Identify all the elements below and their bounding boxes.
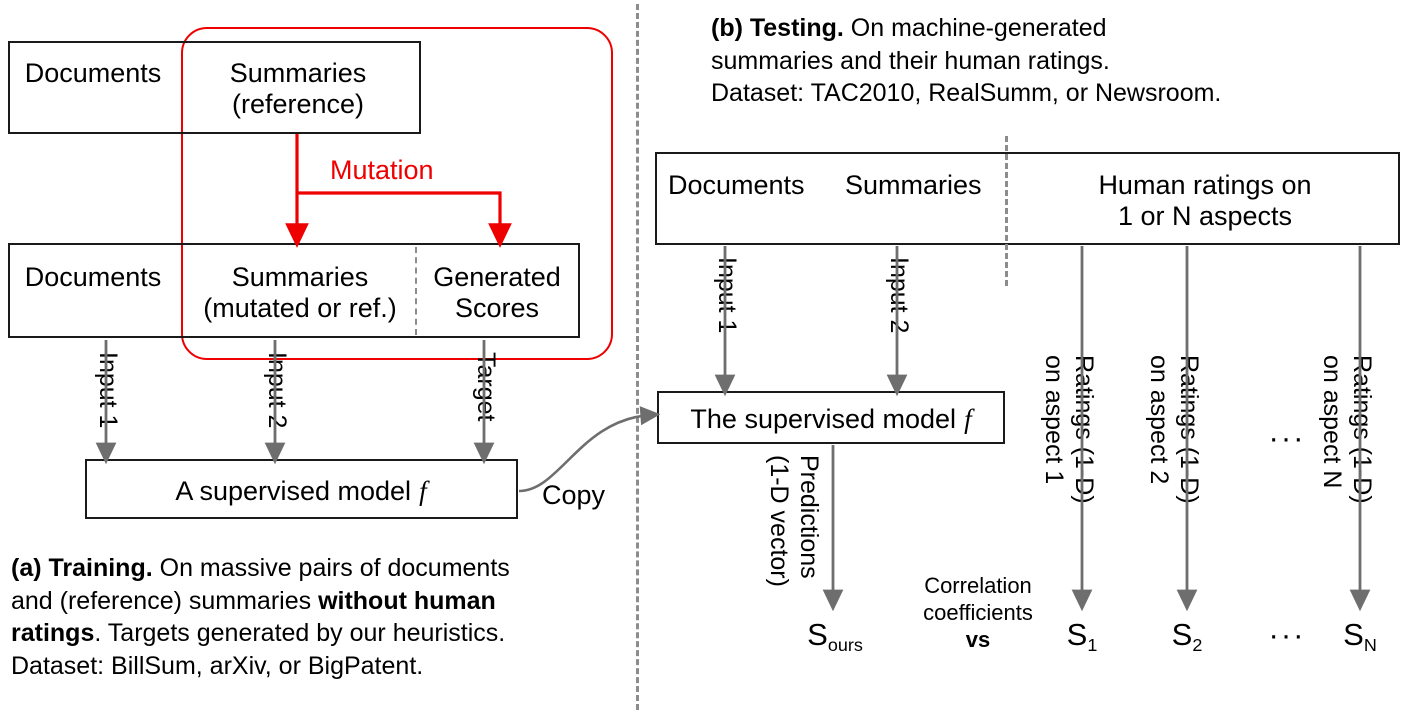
training-mutated-documents-label: Documents (25, 262, 162, 293)
training-source-summaries-line1: Summaries (230, 58, 367, 88)
training-model-text: A supervised model (175, 476, 411, 506)
testing-rating-1-aspect-label: on aspect 1 (1040, 355, 1069, 484)
score-ours-symbol: S (807, 617, 828, 652)
testing-rating-n-main-label: Ratings (1-D) (1348, 355, 1377, 504)
score-ours-subscript: ours (828, 635, 863, 655)
training-generated-scores-line1: Generated (433, 262, 561, 292)
caption-testing-t1: On machine-generated (844, 14, 1107, 42)
training-model-label: A supervised modelf (175, 476, 426, 507)
caption-training-b1: without human (318, 587, 496, 615)
score-ours-label: Sours (807, 617, 863, 653)
testing-rating-2-main-label: Ratings (1-D) (1175, 355, 1204, 504)
caption-training-t2: and (reference) summaries (11, 587, 318, 615)
correlation-line2: coefficients (923, 600, 1033, 625)
score-aspect-1-symbol: S (1067, 617, 1088, 652)
score-aspect-1-label: S1 (1067, 617, 1098, 653)
caption-training-b2: ratings (11, 619, 94, 647)
caption-testing-t3: Dataset: TAC2010, RealSumm, or Newsroom. (711, 79, 1221, 107)
testing-human-ratings-line2: 1 or N aspects (1118, 201, 1292, 231)
testing-model-label: The supervised modelf (690, 404, 971, 435)
caption-testing-t2: summaries and their human ratings. (711, 47, 1110, 75)
score-aspect-n-symbol: S (1343, 617, 1364, 652)
training-model-symbol: f (419, 476, 427, 506)
testing-ratings-ellipsis: ··· (1269, 420, 1306, 456)
panel-separator-dashed-line (636, 4, 639, 710)
testing-rating-2-aspect-label: on aspect 2 (1145, 355, 1174, 484)
testing-summaries-label: Summaries (845, 170, 982, 201)
testing-rating-1-main-label: Ratings (1-D) (1070, 355, 1099, 504)
training-edge-label-input-2: Input 2 (263, 352, 292, 428)
correlation-line1: Correlation (924, 573, 1032, 598)
score-aspect-2-label: S2 (1172, 617, 1203, 653)
training-source-summaries-label: Summaries (reference) (230, 58, 367, 121)
correlation-vs: vs (966, 627, 990, 652)
caption-testing: (b) Testing. On machine-generated summar… (711, 12, 1391, 110)
caption-training-t4: Dataset: BillSum, arXiv, or BigPatent. (11, 652, 423, 680)
correlation-coefficients-label: Correlation coefficients vs (923, 573, 1033, 653)
caption-training-lead: (a) Training. (11, 554, 153, 582)
score-ellipsis: ··· (1269, 617, 1306, 653)
mutation-label: Mutation (330, 155, 434, 186)
training-mutated-summaries-label: Summaries (mutated or ref.) (203, 262, 397, 325)
training-mutated-summaries-line1: Summaries (232, 262, 369, 292)
testing-edge-label-input-2: Input 2 (885, 257, 914, 333)
figure-canvas: Documents Summaries (reference) Mutation… (0, 0, 1402, 713)
copy-edge-label: Copy (542, 480, 605, 511)
training-source-summaries-line2: (reference) (232, 89, 364, 119)
caption-training-t3: . Targets generated by our heuristics. (94, 619, 505, 647)
training-edge-label-target: Target (472, 352, 501, 421)
caption-training: (a) Training. On massive pairs of docume… (11, 552, 626, 682)
testing-model-text: The supervised model (690, 404, 956, 434)
caption-training-t1: On massive pairs of documents (153, 554, 510, 582)
training-source-documents-label: Documents (25, 58, 162, 89)
testing-human-ratings-label: Human ratings on 1 or N aspects (1098, 170, 1311, 233)
training-generated-scores-label: Generated Scores (433, 262, 561, 325)
training-generated-scores-line2: Scores (455, 293, 539, 323)
testing-edge-label-input-1: Input 1 (713, 257, 742, 333)
testing-model-symbol: f (964, 404, 972, 434)
score-aspect-n-subscript: N (1364, 635, 1377, 655)
mutation-arrow-to-scores (297, 193, 500, 236)
testing-human-ratings-line1: Human ratings on (1098, 170, 1311, 200)
training-mutated-box-divider (415, 247, 417, 335)
caption-testing-lead: (b) Testing. (711, 14, 844, 42)
testing-documents-label: Documents (668, 170, 805, 201)
testing-predictions-line1-label: Predictions (795, 455, 824, 579)
training-edge-label-input-1: Input 1 (94, 352, 123, 428)
score-aspect-2-symbol: S (1172, 617, 1193, 652)
testing-predictions-line2-label: (1-D vector) (765, 455, 794, 587)
score-aspect-1-subscript: 1 (1087, 635, 1097, 655)
training-mutated-summaries-line2: (mutated or ref.) (203, 293, 397, 323)
score-aspect-2-subscript: 2 (1192, 635, 1202, 655)
testing-data-box-divider (1005, 136, 1008, 286)
testing-rating-n-aspect-label: on aspect N (1318, 355, 1347, 488)
score-aspect-n-label: SN (1343, 617, 1377, 653)
